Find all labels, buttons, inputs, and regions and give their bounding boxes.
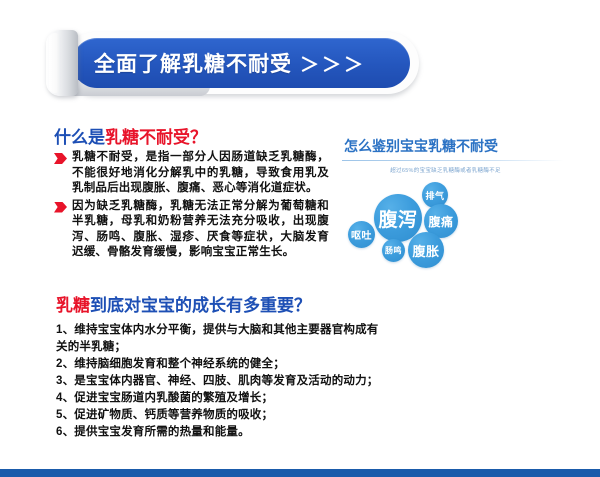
section-importance-heading: 乳糖到底对宝宝的成长有多重要？ [56,291,311,316]
symptom-bubble-label: 呕吐 [351,227,372,242]
section-what-bullets: 乳糖不耐受，是指一部分人因肠道缺乏乳糖酶，不能很好地消化分解乳中的乳糖，导致食用… [54,150,329,263]
footer-bar [0,469,600,477]
arrow-bullet-icon [54,153,67,164]
importance-list-item: 5、促进矿物质、钙质等营养物质的吸收； [56,407,386,424]
symptom-bubble: 呕吐 [348,221,375,248]
section-what-heading: 什么是乳糖不耐受？ [54,123,207,148]
symptom-bubble-label: 腹痛 [428,213,453,230]
banner-scroll-roll-highlight [49,33,61,93]
symptom-bubble: 肠鸣 [382,239,405,262]
symptom-bubble: 腹胀 [408,232,444,268]
banner-pill: 全面了解乳糖不耐受 ＞＞＞ [72,38,410,88]
importance-list-item: 3、是宝宝体内器官、神经、四肢、肌肉等发育及活动的动力； [56,373,386,390]
infographic-page: 全面了解乳糖不耐受 ＞＞＞ 什么是乳糖不耐受？ 乳糖不耐受，是指一部分人因肠道缺… [0,0,600,477]
section-importance-heading-blue: 到底对宝宝的成长有多重要？ [90,296,311,315]
bullet-text: 乳糖不耐受，是指一部分人因肠道缺乏乳糖酶，不能很好地消化分解乳中的乳糖，导致食用… [72,150,329,197]
importance-list-item: 6、提供宝宝发育所需的热量和能量。 [56,424,386,441]
header-banner: 全面了解乳糖不耐受 ＞＞＞ [46,22,426,100]
chevron-right-icon: ＞＞＞ [300,50,366,77]
symptom-bubble-label: 肠鸣 [385,245,402,256]
symptom-bubble-cloud: 腹泻排气腹痛呕吐肠鸣腹胀 [338,178,568,270]
symptom-bubble-label: 排气 [425,189,444,202]
section-importance-heading-red: 乳糖 [56,296,90,315]
symptom-bubble-label: 腹胀 [412,241,439,260]
section-identify-subtitle: 超过65%的宝宝缺乏乳糖酶或者乳糖酶不足 [338,166,553,174]
importance-list-item: 2、维持脑细胞发育和整个神经系统的健全； [56,356,386,373]
bullet-item: 因为缺乏乳糖酶，乳糖无法正常分解为葡萄糖和半乳糖，母乳和奶粉营养无法充分吸收，出… [54,199,329,261]
importance-list-item: 4、促进宝宝肠道内乳酸菌的繁殖及增长； [56,390,386,407]
section-what-heading-red: 乳糖不耐受？ [105,128,207,147]
arrow-bullet-icon [54,202,67,213]
banner-scroll-roll [46,30,78,96]
bullet-text: 因为缺乏乳糖酶，乳糖无法正常分解为葡萄糖和半乳糖，母乳和奶粉营养无法充分吸收，出… [72,199,329,261]
bullet-item: 乳糖不耐受，是指一部分人因肠道缺乏乳糖酶，不能很好地消化分解乳中的乳糖，导致食用… [54,150,329,197]
section-identify: 怎么鉴别宝宝乳糖不耐受 超过65%的宝宝缺乏乳糖酶或者乳糖酶不足 腹泻排气腹痛呕… [338,136,588,270]
banner-title: 全面了解乳糖不耐受 [94,48,292,78]
importance-list: 1、维持宝宝体内水分平衡，提供与大脑和其他主要器官构成有关的半乳糖；2、维持脑细… [56,322,386,441]
importance-list-item: 1、维持宝宝体内水分平衡，提供与大脑和其他主要器官构成有关的半乳糖； [56,322,386,356]
section-identify-divider [342,160,564,161]
symptom-bubble-label: 腹泻 [378,205,417,232]
section-identify-title: 怎么鉴别宝宝乳糖不耐受 [338,136,588,156]
section-what-heading-blue: 什么是 [54,128,105,147]
